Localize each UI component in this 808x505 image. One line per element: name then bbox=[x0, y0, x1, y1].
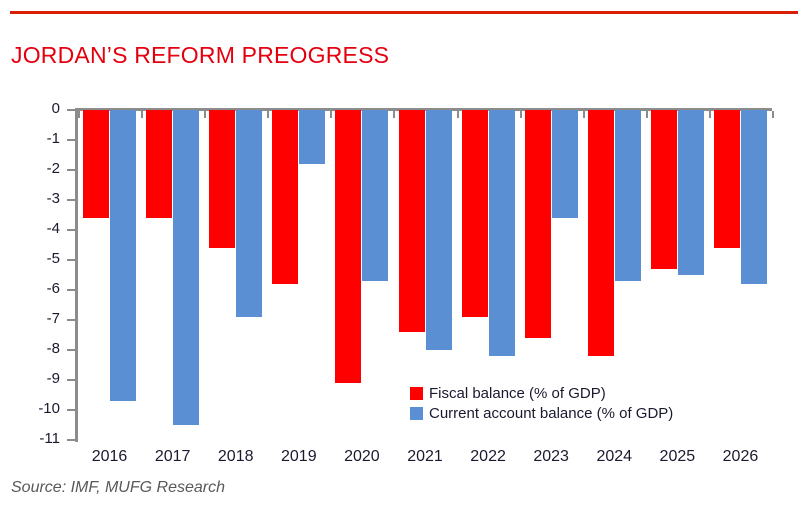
bar-current-account-balance-2024 bbox=[615, 110, 641, 281]
bar-fiscal-balance-2017 bbox=[146, 110, 172, 218]
bar-current-account-balance-2020 bbox=[362, 110, 388, 281]
bar-fiscal-balance-2023 bbox=[525, 110, 551, 338]
legend-label: Current account balance (% of GDP) bbox=[429, 405, 673, 422]
chart-page: JORDAN’S REFORM PREOGRESS 0-1-2-3-4-5-6-… bbox=[0, 0, 808, 505]
source-note: Source: IMF, MUFG Research bbox=[11, 479, 225, 497]
y-axis-label: -6 bbox=[47, 280, 60, 297]
y-axis-label: -9 bbox=[47, 370, 60, 387]
y-axis-label: -8 bbox=[47, 340, 60, 357]
x-axis-label-2020: 2020 bbox=[330, 448, 393, 466]
y-axis-label: -5 bbox=[47, 250, 60, 267]
x-axis-label-2016: 2016 bbox=[78, 448, 141, 466]
x-axis-label-2025: 2025 bbox=[646, 448, 709, 466]
y-axis-tick bbox=[67, 169, 75, 171]
x-axis-tick bbox=[772, 111, 774, 118]
y-axis-tick bbox=[67, 379, 75, 381]
y-axis-label: 0 bbox=[52, 100, 60, 117]
bar-current-account-balance-2023 bbox=[552, 110, 578, 218]
chart-plot-area: 0-1-2-3-4-5-6-7-8-9-10-11 20162017201820… bbox=[0, 0, 808, 505]
x-axis-label-2021: 2021 bbox=[393, 448, 456, 466]
y-axis-tick bbox=[67, 439, 75, 441]
x-axis-tick bbox=[583, 111, 585, 118]
x-axis-tick bbox=[709, 111, 711, 118]
bar-current-account-balance-2021 bbox=[426, 110, 452, 350]
x-axis-tick bbox=[141, 111, 143, 118]
y-axis-tick bbox=[67, 289, 75, 291]
y-axis-label: -4 bbox=[47, 220, 60, 237]
x-axis-tick bbox=[78, 111, 80, 118]
x-axis-tick bbox=[646, 111, 648, 118]
bar-fiscal-balance-2016 bbox=[83, 110, 109, 218]
y-axis-label: -11 bbox=[39, 430, 60, 447]
x-axis-label-2023: 2023 bbox=[520, 448, 583, 466]
bar-fiscal-balance-2018 bbox=[209, 110, 235, 248]
y-axis-tick bbox=[67, 319, 75, 321]
legend-label: Fiscal balance (% of GDP) bbox=[429, 385, 606, 402]
bar-current-account-balance-2016 bbox=[110, 110, 136, 401]
bar-current-account-balance-2019 bbox=[299, 110, 325, 164]
x-axis-label-2018: 2018 bbox=[204, 448, 267, 466]
bar-fiscal-balance-2022 bbox=[462, 110, 488, 317]
legend-item-fiscal-balance: Fiscal balance (% of GDP) bbox=[410, 383, 673, 403]
y-axis-tick bbox=[67, 259, 75, 261]
y-axis-tick bbox=[67, 139, 75, 141]
bar-current-account-balance-2022 bbox=[489, 110, 515, 356]
bar-current-account-balance-2018 bbox=[236, 110, 262, 317]
x-axis-tick bbox=[393, 111, 395, 118]
y-axis-label: -10 bbox=[38, 400, 60, 417]
x-axis-label-2022: 2022 bbox=[457, 448, 520, 466]
bar-current-account-balance-2017 bbox=[173, 110, 199, 425]
legend-item-current-account-balance: Current account balance (% of GDP) bbox=[410, 403, 673, 423]
bar-fiscal-balance-2019 bbox=[272, 110, 298, 284]
bar-current-account-balance-2026 bbox=[741, 110, 767, 284]
x-axis-label-2024: 2024 bbox=[583, 448, 646, 466]
x-axis-label-2026: 2026 bbox=[709, 448, 772, 466]
x-axis-tick bbox=[267, 111, 269, 118]
x-axis-tick bbox=[520, 111, 522, 118]
x-axis-label-2017: 2017 bbox=[141, 448, 204, 466]
y-axis-tick bbox=[67, 199, 75, 201]
bar-fiscal-balance-2026 bbox=[714, 110, 740, 248]
y-axis-tick bbox=[67, 229, 75, 231]
y-axis-label: -3 bbox=[47, 190, 60, 207]
bar-fiscal-balance-2021 bbox=[399, 110, 425, 332]
x-axis-tick bbox=[330, 111, 332, 118]
y-axis-tick bbox=[67, 349, 75, 351]
y-axis-label: -1 bbox=[47, 130, 60, 147]
y-axis-tick bbox=[67, 409, 75, 411]
legend-swatch-icon bbox=[410, 387, 423, 400]
legend-swatch-icon bbox=[410, 407, 423, 420]
y-axis-label: -7 bbox=[47, 310, 60, 327]
bar-current-account-balance-2025 bbox=[678, 110, 704, 275]
x-axis-tick bbox=[457, 111, 459, 118]
bar-fiscal-balance-2024 bbox=[588, 110, 614, 356]
bar-fiscal-balance-2020 bbox=[335, 110, 361, 383]
y-axis-tick bbox=[67, 109, 75, 111]
chart-legend: Fiscal balance (% of GDP) Current accoun… bbox=[410, 383, 673, 423]
x-axis-label-2019: 2019 bbox=[267, 448, 330, 466]
y-axis-line bbox=[75, 108, 78, 442]
x-axis-tick bbox=[204, 111, 206, 118]
y-axis-label: -2 bbox=[47, 160, 60, 177]
bar-fiscal-balance-2025 bbox=[651, 110, 677, 269]
